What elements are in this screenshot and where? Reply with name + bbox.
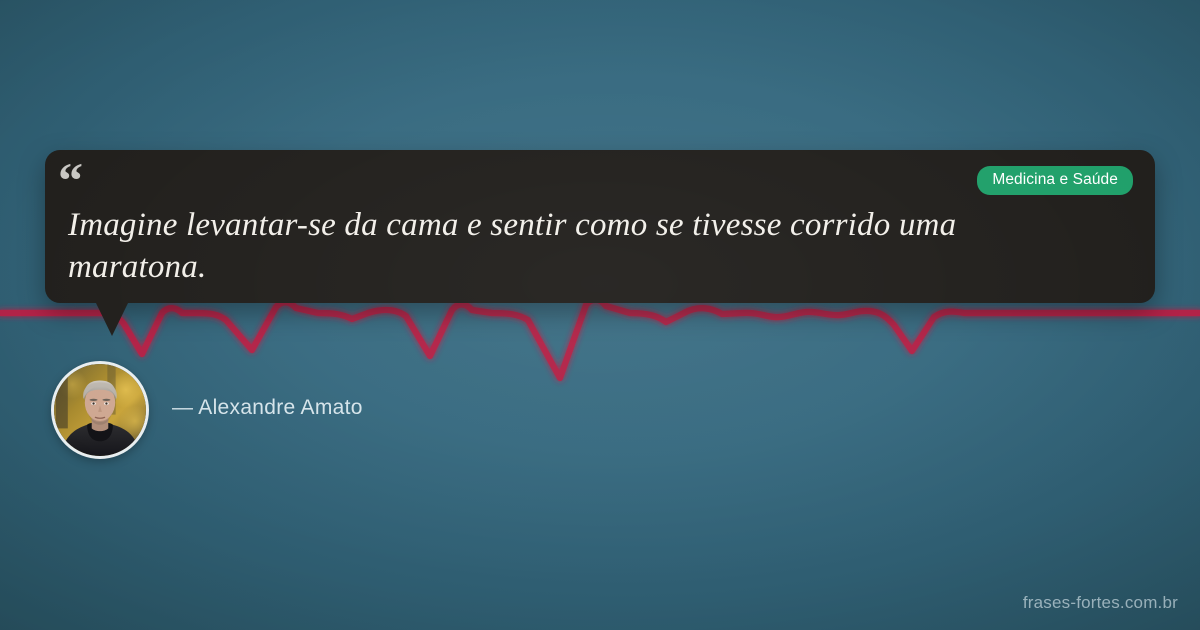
status-badge-category[interactable]: Medicina e Saúde [977,166,1133,195]
avatar-portrait-icon [54,364,146,456]
quote-card-tail [95,301,129,336]
quote-text: Imagine levantar-se da cama e sentir com… [68,204,1088,288]
watermark: frases-fortes.com.br [1023,593,1178,613]
author-name: — Alexandre Amato [172,396,363,420]
quote-card-image: Medicina e Saúde “ Imagine levantar-se d… [0,0,1200,630]
ecg-path [0,299,1200,378]
quote-mark-icon: “ [58,155,84,205]
avatar [51,361,149,459]
